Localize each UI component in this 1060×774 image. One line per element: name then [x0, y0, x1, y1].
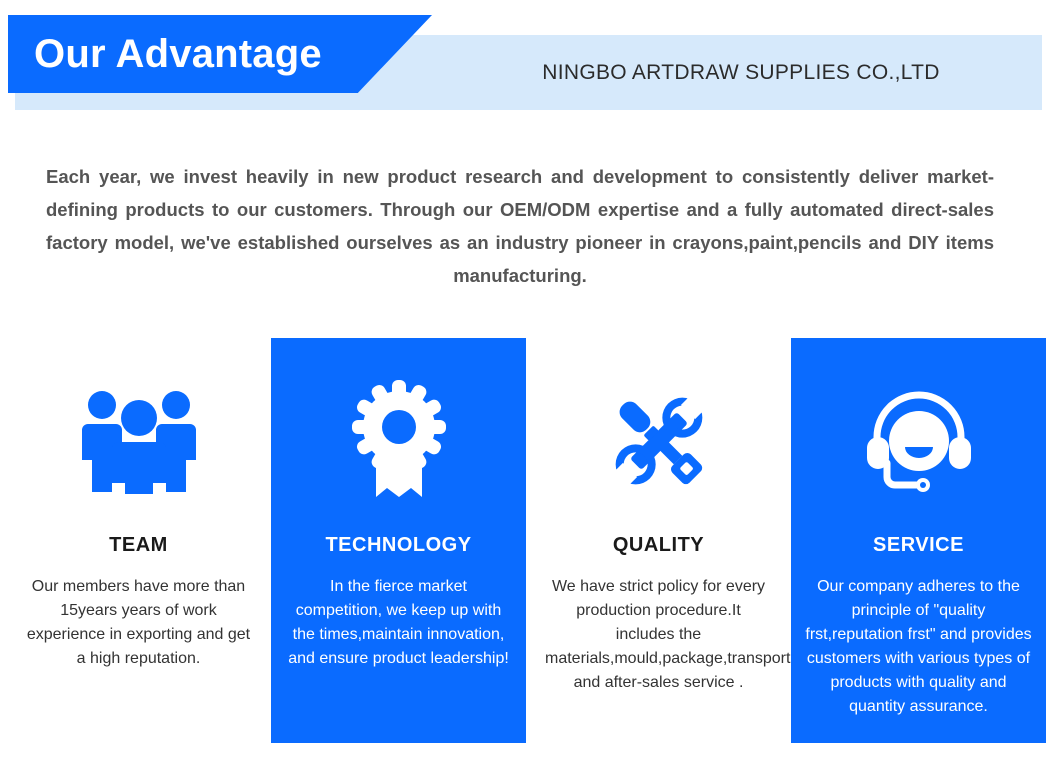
card-description: In the fierce market competition, we kee… [271, 575, 526, 671]
card-title: TEAM [109, 534, 168, 557]
feature-card-service[interactable]: SERVICE Our company adheres to the princ… [791, 338, 1046, 743]
card-description: Our members have more than 15years years… [11, 575, 266, 671]
team-people-icon [11, 366, 266, 516]
headset-support-icon [791, 366, 1046, 516]
feature-card-technology[interactable]: TECHNOLOGY In the fierce market competit… [271, 338, 526, 743]
feature-card-quality[interactable]: QUALITY We have strict policy for every … [531, 338, 786, 743]
page-title: Our Advantage [8, 34, 322, 74]
page-header: Our Advantage NINGBO ARTDRAW SUPPLIES CO… [0, 0, 1060, 120]
advantage-page: Our Advantage NINGBO ARTDRAW SUPPLIES CO… [0, 0, 1060, 774]
wrench-screwdriver-icon [531, 366, 786, 516]
card-title: QUALITY [613, 534, 704, 557]
company-name: NINGBO ARTDRAW SUPPLIES CO.,LTD [440, 35, 1042, 110]
card-description: Our company adheres to the principle of … [791, 575, 1046, 719]
feature-card-team[interactable]: TEAM Our members have more than 15years … [11, 338, 266, 743]
header-ribbon: Our Advantage [8, 15, 432, 93]
intro-paragraph: Each year, we invest heavily in new prod… [46, 160, 994, 292]
intro-section: Each year, we invest heavily in new prod… [46, 160, 994, 292]
feature-card-row: TEAM Our members have more than 15years … [0, 338, 1060, 743]
card-title: TECHNOLOGY [325, 534, 471, 557]
card-description: We have strict policy for every producti… [531, 575, 786, 695]
card-title: SERVICE [873, 534, 964, 557]
award-badge-icon [271, 366, 526, 516]
